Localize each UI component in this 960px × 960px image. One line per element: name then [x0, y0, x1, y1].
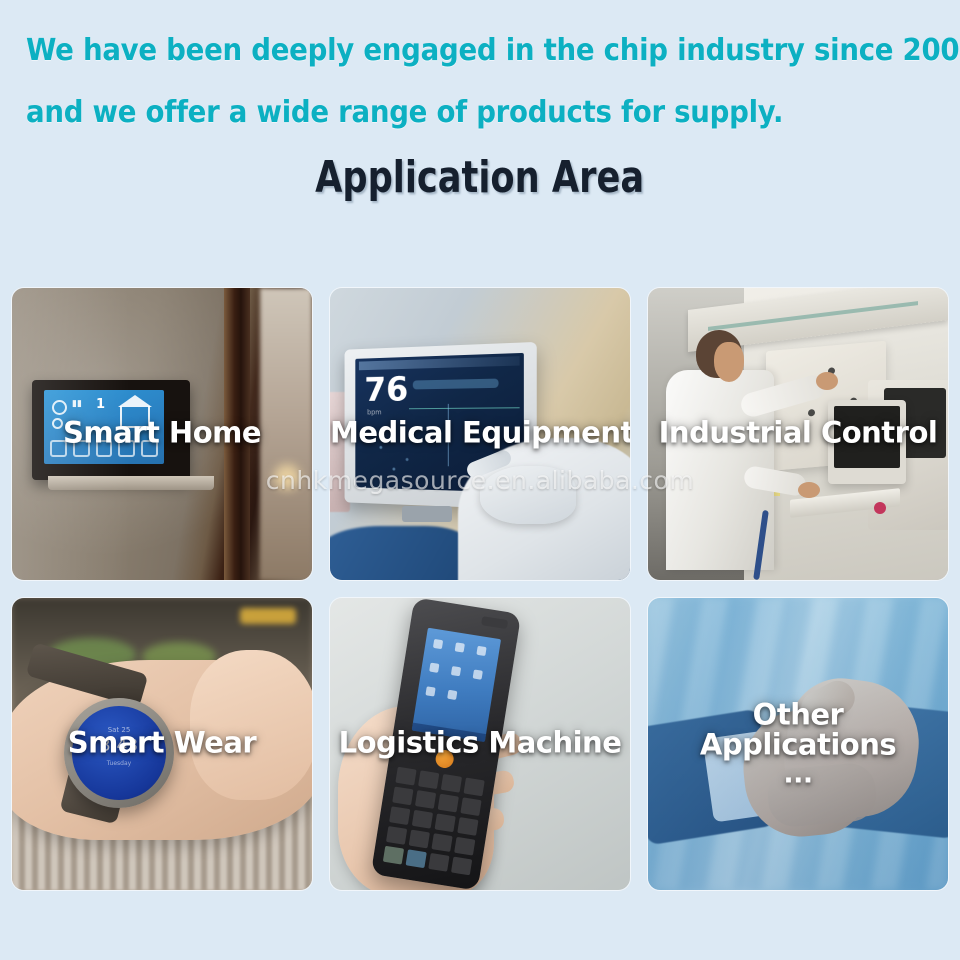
card-smart-wear[interactable]: Sat 25 3:43 Tuesday Smart Wear [12, 598, 312, 890]
card-medical-equipment[interactable]: 76 bpm Medical Equipment [330, 288, 630, 580]
card-label-smart-home: Smart Home [12, 415, 312, 449]
card-label-medical-equipment: Medical Equipment [330, 415, 630, 449]
label-ellipsis: ... [648, 760, 948, 788]
card-label-logistics-machine: Logistics Machine [330, 725, 630, 759]
label-line-1: Other [648, 699, 948, 729]
application-area-banner: We have been deeply engaged in the chip … [0, 0, 960, 960]
watermark: cnhkmegasource.en.alibaba.com [0, 466, 960, 495]
application-card-grid: ▮▮ 1 Smart Home [12, 288, 948, 890]
card-other-applications[interactable]: Other Applications ... [648, 598, 948, 890]
monitor-reading: 76 [364, 373, 408, 407]
watch-footer: Tuesday [72, 760, 166, 767]
emergency-button [874, 502, 886, 514]
section-title-text: Application Area [315, 152, 644, 203]
headline-line-2: and we offer a wide range of products fo… [26, 82, 872, 144]
card-label-smart-wear: Smart Wear [12, 725, 312, 759]
speaker-grill [481, 616, 508, 629]
card-logistics-machine[interactable]: Logistics Machine [330, 598, 630, 890]
card-industrial-control[interactable]: Industrial Control [648, 288, 948, 580]
section-title: Application Area [0, 152, 960, 203]
headline: We have been deeply engaged in the chip … [26, 20, 946, 144]
label-line-2: Applications [648, 730, 948, 760]
card-label-industrial-control: Industrial Control [648, 415, 948, 449]
card-smart-home[interactable]: ▮▮ 1 Smart Home [12, 288, 312, 580]
keypad [383, 767, 485, 876]
headline-line-1: We have been deeply engaged in the chip … [26, 20, 872, 82]
card-label-other-applications: Other Applications ... [648, 699, 948, 788]
